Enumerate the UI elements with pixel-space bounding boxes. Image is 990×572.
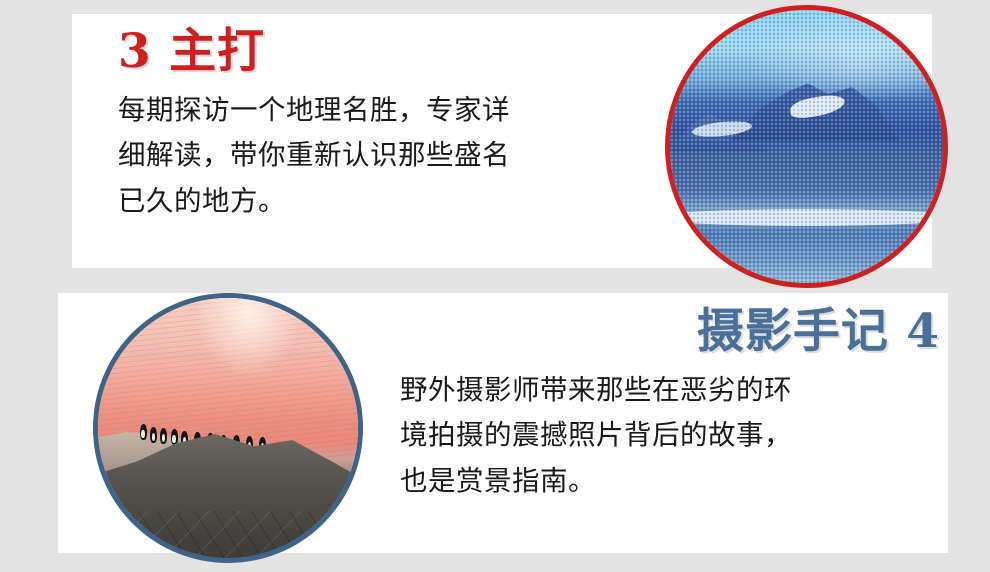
bottom-section-heading: 摄影手记 4 [400,306,940,359]
penguin-sun-glow [197,293,301,376]
top-body-line-1: 每期探访一个地理名胜，专家详 [118,87,638,133]
penguins-on-rock-photo [93,293,363,563]
top-section-heading: 3 主打 [118,26,638,79]
penguin-figure [150,427,157,443]
penguin-figure [160,428,167,444]
top-section-text-block: 3 主打 每期探访一个地理名胜，专家详 细解读，带你重新认识那些盛名 已久的地方… [118,26,638,224]
penguin-figure [171,429,178,445]
bottom-section-text-block: 摄影手记 4 野外摄影师带来那些在恶劣的环 境拍摄的震撼照片背后的故事， 也是赏… [400,306,940,504]
penguin-figure [140,424,147,440]
bottom-section-body: 野外摄影师带来那些在恶劣的环 境拍摄的震撼照片背后的故事， 也是赏景指南。 [400,367,940,504]
glacier-mountain-photo [665,5,948,288]
magazine-spread: 3 主打 每期探访一个地理名胜，专家详 细解读，带你重新认识那些盛名 已久的地方… [0,0,990,572]
top-body-line-3: 已久的地方。 [118,178,638,224]
penguin-scene [98,298,358,558]
bottom-body-line-3: 也是赏景指南。 [400,458,940,504]
glacier-scene [670,10,943,283]
bottom-body-line-2: 境拍摄的震撼照片背后的故事， [400,412,940,458]
penguin-rock-texture [93,511,363,563]
top-section-body: 每期探访一个地理名胜，专家详 细解读，带你重新认识那些盛名 已久的地方。 [118,87,638,224]
top-body-line-2: 细解读，带你重新认识那些盛名 [118,132,638,178]
glacier-halftone-texture [670,10,943,283]
bottom-body-line-1: 野外摄影师带来那些在恶劣的环 [400,367,940,413]
